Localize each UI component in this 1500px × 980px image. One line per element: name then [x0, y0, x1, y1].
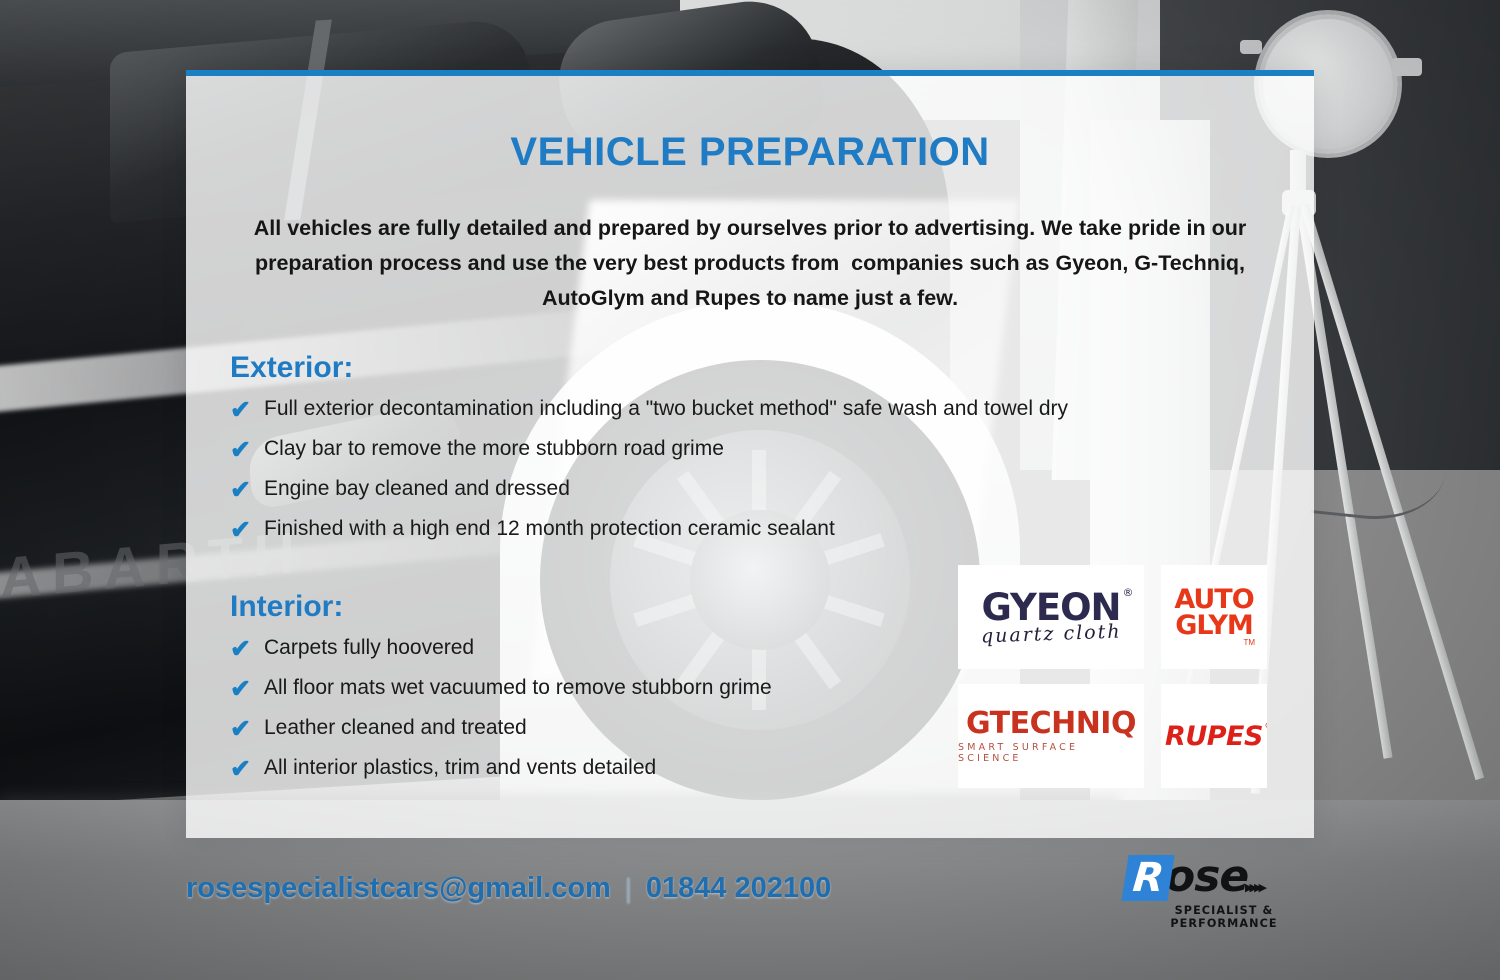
page-title: VEHICLE PREPARATION [186, 130, 1314, 175]
rose-letter-r: R [1131, 858, 1165, 898]
trademark-icon: TM [1243, 638, 1255, 647]
autoglym-line-1: AUTO [1174, 587, 1253, 613]
company-logo: R ose ▸▸▸▸ SPECIALIST & PERFORMANCE [1125, 855, 1325, 927]
rose-wordmark: R ose ▸▸▸▸ [1125, 855, 1325, 901]
list-item-label: All interior plastics, trim and vents de… [264, 756, 656, 780]
footer-contact: rosespecialistcars@gmail.com | 01844 202… [186, 872, 831, 905]
gyeon-tagline: quartz cloth [980, 621, 1121, 648]
power-cable [1311, 423, 1450, 526]
registered-trademark-icon: ® [1123, 587, 1133, 598]
registered-trademark-icon: ® [1264, 721, 1267, 730]
content-panel: VEHICLE PREPARATION All vehicles are ful… [186, 70, 1314, 838]
check-mark-icon: ✔ [230, 478, 264, 503]
autoglym-line-2: GLYM [1175, 613, 1253, 639]
lamp-adjust-knob [1240, 40, 1262, 54]
phone-link[interactable]: 01844 202100 [646, 872, 831, 905]
brand-logo-rupes: RUPES ® [1161, 684, 1267, 788]
gtechniq-wordmark: GTECHNIQ [966, 709, 1136, 739]
chevron-accent-icon: ▸▸▸▸ [1245, 878, 1263, 896]
rupes-wordmark: RUPES ® [1165, 721, 1263, 752]
check-mark-icon: ✔ [230, 677, 264, 702]
brand-logo-gtechniq: GTECHNIQ SMART SURFACE SCIENCE [958, 684, 1144, 788]
lamp-adjust-knob [1392, 58, 1422, 76]
company-tagline: SPECIALIST & PERFORMANCE [1125, 904, 1323, 930]
check-mark-icon: ✔ [230, 637, 264, 662]
check-mark-icon: ✔ [230, 438, 264, 463]
gtechniq-tagline: SMART SURFACE SCIENCE [958, 742, 1144, 764]
list-item: ✔ Clay bar to remove the more stubborn r… [230, 437, 1314, 462]
exterior-checklist: ✔ Full exterior decontamination includin… [230, 397, 1314, 542]
rupes-name: RUPES [1165, 721, 1263, 752]
brand-logo-autoglym: AUTO GLYM TM [1161, 565, 1267, 669]
list-item-label: Leather cleaned and treated [264, 716, 527, 740]
intro-paragraph: All vehicles are fully detailed and prep… [241, 211, 1259, 315]
brand-logo-gyeon: GYEON ® quartz cloth [958, 565, 1144, 669]
list-item: ✔ Engine bay cleaned and dressed [230, 477, 1314, 502]
check-mark-icon: ✔ [230, 518, 264, 543]
email-link[interactable]: rosespecialistcars@gmail.com [186, 872, 611, 905]
panel-accent-bar [186, 70, 1314, 76]
list-item-label: Clay bar to remove the more stubborn roa… [264, 437, 724, 461]
list-item-label: Carpets fully hoovered [264, 636, 474, 660]
list-item-label: Full exterior decontamination including … [264, 397, 1068, 421]
rose-r-badge: R [1121, 855, 1174, 901]
footer-separator: | [625, 873, 632, 904]
list-item: ✔ Finished with a high end 12 month prot… [230, 517, 1314, 542]
section-heading-exterior: Exterior: [230, 351, 1314, 385]
check-mark-icon: ✔ [230, 757, 264, 782]
list-item-label: All floor mats wet vacuumed to remove st… [264, 676, 772, 700]
rose-letters-ose: ose [1165, 855, 1248, 899]
check-mark-icon: ✔ [230, 398, 264, 423]
brand-logo-grid: GYEON ® quartz cloth AUTO GLYM TM GTECHN… [958, 565, 1267, 788]
check-mark-icon: ✔ [230, 717, 264, 742]
list-item-label: Finished with a high end 12 month protec… [264, 517, 835, 541]
list-item: ✔ Full exterior decontamination includin… [230, 397, 1314, 422]
list-item-label: Engine bay cleaned and dressed [264, 477, 570, 501]
